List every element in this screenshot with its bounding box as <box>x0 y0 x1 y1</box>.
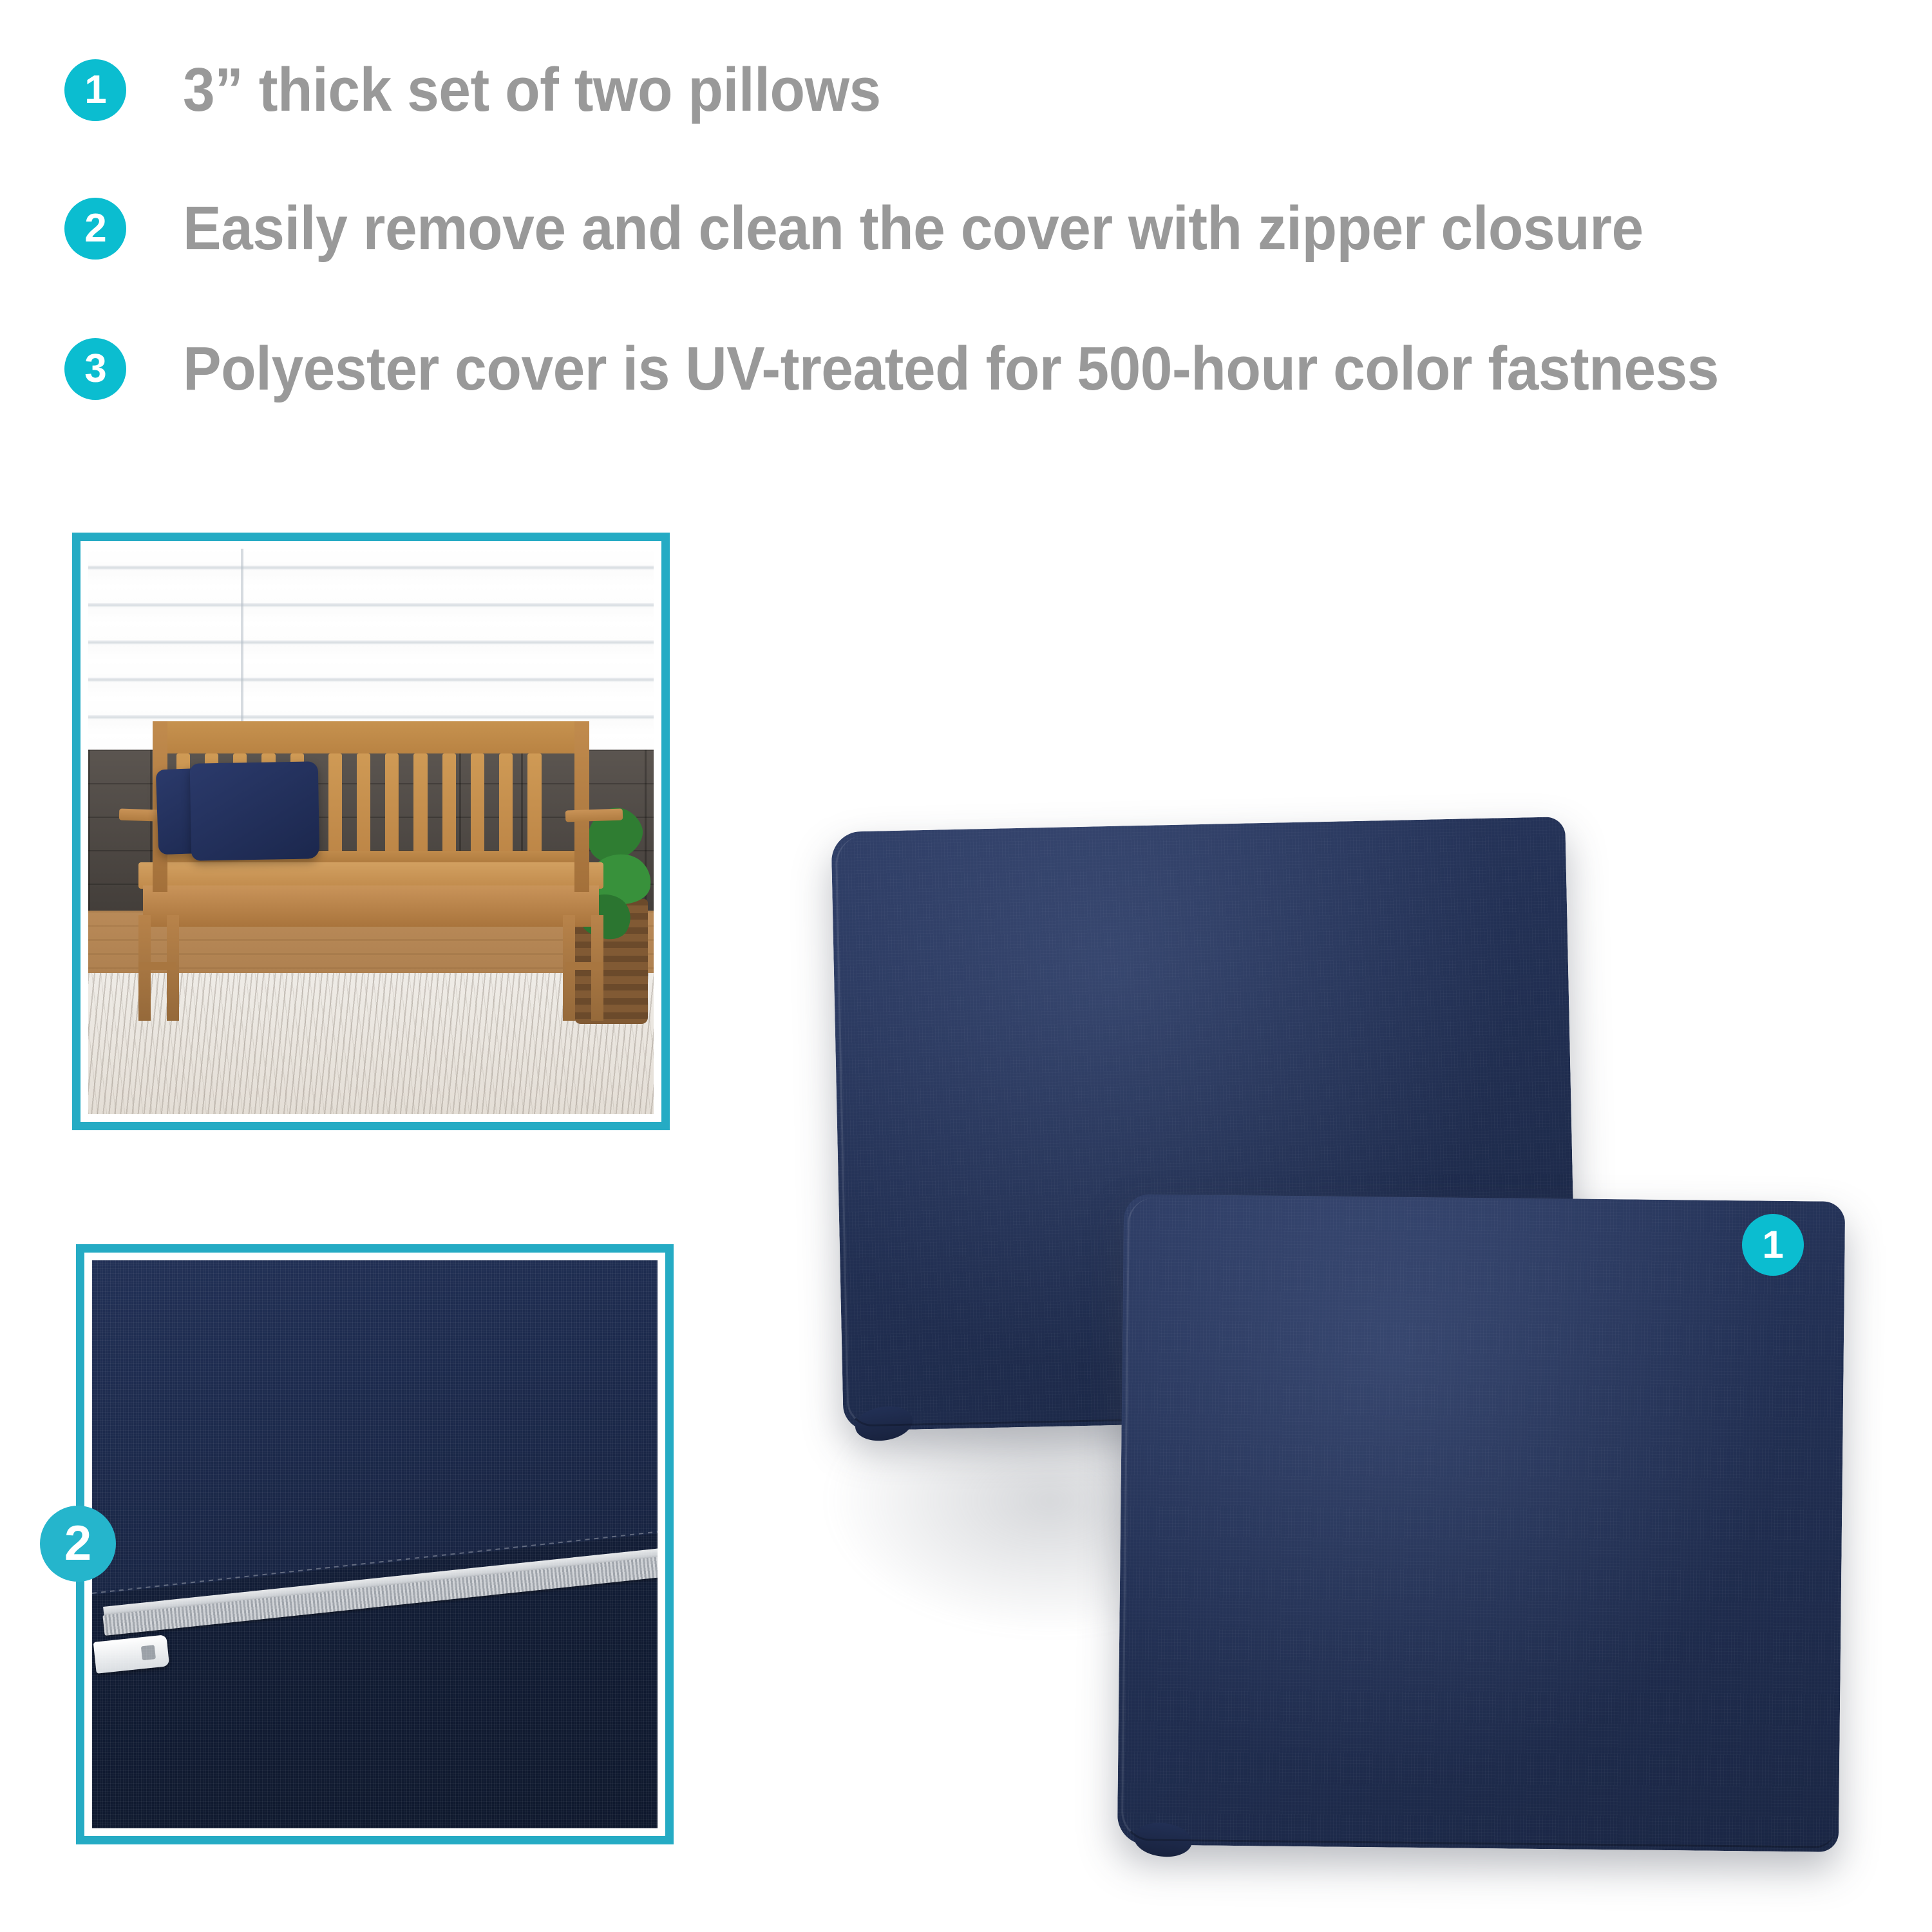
hero-callout-badge: 1 <box>1742 1214 1804 1276</box>
bench-slat <box>357 753 370 853</box>
hero-pillows: 1 <box>805 799 1932 1932</box>
bench-pillow-front <box>189 761 319 860</box>
bench-scene-illustration <box>88 549 654 1114</box>
bench-top-rail <box>162 721 580 753</box>
feature-badge-2: 2 <box>64 198 126 260</box>
bench-slat <box>442 753 456 853</box>
feature-badge-3: 3 <box>64 338 126 400</box>
bench-slat <box>471 753 484 853</box>
feature-text-1: 3” thick set of two pillows <box>183 59 881 121</box>
wooden-bench <box>133 721 609 1016</box>
zipper-photo-frame <box>76 1244 674 1844</box>
bench-photo <box>88 549 654 1114</box>
bench-slat <box>527 753 541 853</box>
zipper-callout-badge: 2 <box>40 1506 116 1582</box>
zipper-photo <box>92 1260 658 1828</box>
pillow-seam <box>1121 1198 1841 1848</box>
bench-stretcher <box>565 962 603 969</box>
bench-slat <box>328 753 342 853</box>
feature-row-3: 3 Polyester cover is UV-treated for 500-… <box>64 334 1834 404</box>
bench-stretcher <box>138 962 176 969</box>
bench-seat <box>138 862 604 889</box>
feature-text-2: Easily remove and clean the cover with z… <box>183 198 1643 260</box>
bench-arm-right <box>565 808 623 822</box>
bench-slat <box>385 753 399 853</box>
bench-slat <box>413 753 427 853</box>
feature-badge-1: 1 <box>64 59 126 121</box>
feature-text-3: Polyester cover is UV-treated for 500-ho… <box>183 338 1719 400</box>
bench-slat <box>499 753 513 853</box>
feature-row-1: 1 3” thick set of two pillows <box>64 55 933 126</box>
bench-apron <box>143 885 599 927</box>
zipper-closeup-illustration <box>92 1260 658 1828</box>
bench-photo-frame <box>72 533 670 1130</box>
feature-row-2: 2 Easily remove and clean the cover with… <box>64 193 1753 264</box>
pillow-front <box>1117 1194 1846 1852</box>
bench-post-right <box>574 721 590 892</box>
